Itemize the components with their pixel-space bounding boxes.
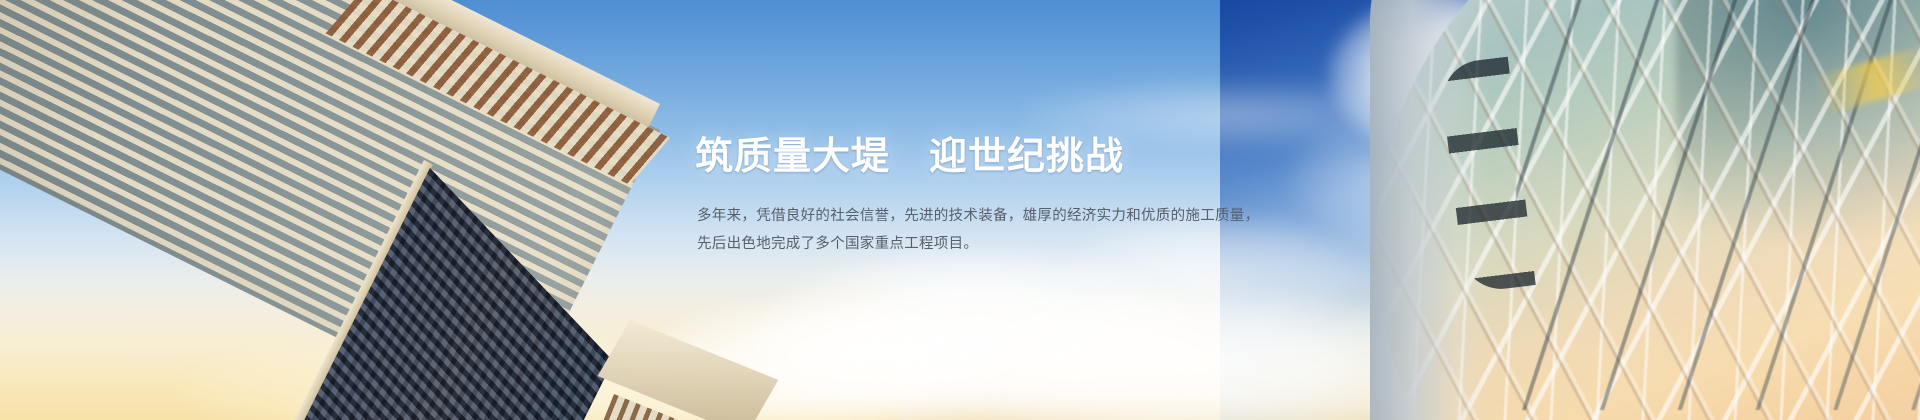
banner-subcopy: 多年来，凭借良好的社会信誉，先进的技术装备，雄厚的经济实力和优质的施工质量， 先… — [697, 202, 1355, 258]
banner-subcopy-line-2: 先后出色地完成了多个国家重点工程项目。 — [697, 230, 1355, 258]
banner-headline: 筑质量大堤 迎世纪挑战 — [695, 132, 1355, 180]
hero-banner: 筑质量大堤 迎世纪挑战 多年来，凭借良好的社会信誉，先进的技术装备，雄厚的经济实… — [0, 0, 1920, 420]
banner-copy-block: 筑质量大堤 迎世纪挑战 多年来，凭借良好的社会信誉，先进的技术装备，雄厚的经济实… — [695, 132, 1355, 258]
banner-subcopy-line-1: 多年来，凭借良好的社会信誉，先进的技术装备，雄厚的经济实力和优质的施工质量， — [697, 202, 1355, 230]
sky-warm-horizon-glow — [0, 250, 900, 420]
